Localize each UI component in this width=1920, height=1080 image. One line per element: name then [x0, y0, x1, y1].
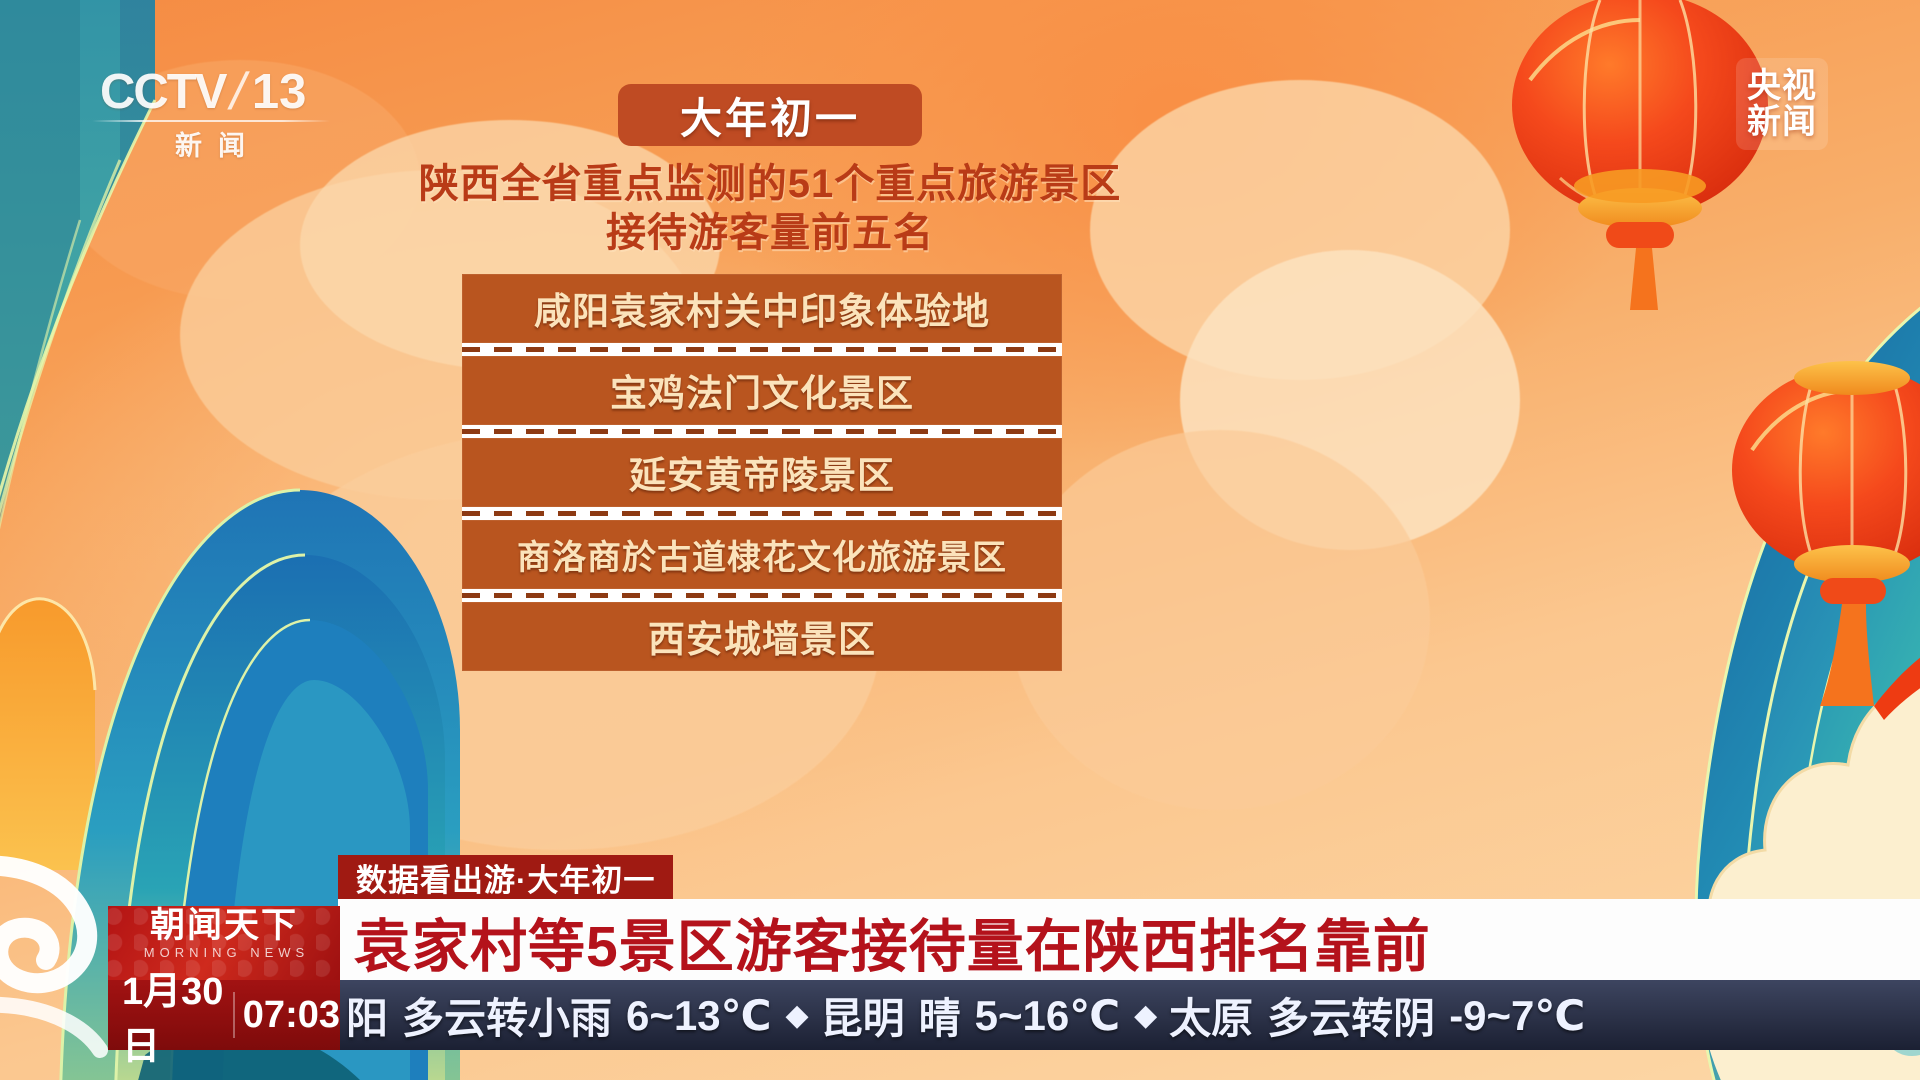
weather-entry: 昆明 晴 5~16℃ — [815, 985, 1121, 1046]
program-name-cn: 朝闻天下 — [108, 908, 340, 945]
cctv-channel-logo: CCTV / 13 新闻 — [100, 62, 320, 163]
ranking-list-item: 宝鸡法门文化景区 — [462, 356, 1062, 425]
weather-separator-icon: ◆ — [1134, 998, 1157, 1033]
broadcast-date: 1月30日 — [108, 960, 225, 1070]
program-name-en: MORNING NEWS — [108, 945, 340, 960]
ranking-list-separator — [462, 425, 1062, 438]
weather-condition: 多云转小雨 — [402, 985, 612, 1046]
topic-tag: 数据看出游·大年初一 — [338, 855, 673, 899]
headline-line-2: 接待游客量前五名 — [400, 209, 1140, 258]
cctv-wordmark: CCTV — [100, 68, 225, 117]
festival-day-badge-label: 大年初一 — [680, 85, 860, 146]
ranking-list-item: 咸阳袁家村关中印象体验地 — [462, 274, 1062, 343]
weather-separator-icon: ◆ — [786, 998, 809, 1033]
ranking-list: 咸阳袁家村关中印象体验地 宝鸡法门文化景区 延安黄帝陵景区 商洛商於古道棣花文化… — [462, 274, 1062, 671]
ranking-item-name: 西安城墙景区 — [648, 609, 876, 663]
cctv-channel-name: 新闻 — [100, 124, 320, 163]
ranking-list-item: 西安城墙景区 — [462, 602, 1062, 671]
date-time-bar: 1月30日 07:03 — [108, 980, 340, 1050]
cctv-logo-underline — [92, 120, 330, 122]
headline-line-1: 陕西全省重点监测的51个重点旅游景区 — [400, 160, 1140, 209]
weather-entry: 阳 多云转小雨 6~13℃ — [340, 985, 772, 1046]
weather-city: 阳 — [346, 985, 388, 1046]
ranking-list-item: 延安黄帝陵景区 — [462, 438, 1062, 507]
weather-condition: 多云转阴 — [1267, 985, 1435, 1046]
infographic-panel: 大年初一 陕西全省重点监测的51个重点旅游景区 接待游客量前五名 咸阳袁家村关中… — [400, 84, 1140, 671]
ranking-list-item: 商洛商於古道棣花文化旅游景区 — [462, 520, 1062, 589]
cctv-channel-number: 13 — [252, 68, 307, 117]
weather-temperature: 5~16℃ — [975, 991, 1120, 1040]
ranking-item-name: 商洛商於古道棣花文化旅游景区 — [517, 530, 1007, 579]
cctv-news-watermark: 央视 新闻 — [1736, 58, 1828, 150]
watermark-line-1: 央视 — [1747, 69, 1817, 104]
weather-city: 太原 — [1169, 985, 1253, 1046]
ranking-list-separator — [462, 589, 1062, 602]
broadcast-screen: CCTV / 13 新闻 央视 新闻 大年初一 陕西全省重点监测的51个重点旅游… — [0, 0, 1920, 1080]
ranking-list-separator — [462, 343, 1062, 356]
weather-city: 昆明 — [821, 985, 905, 1046]
cctv-slash-divider: / — [225, 62, 252, 122]
weather-condition: 晴 — [919, 985, 961, 1046]
weather-temperature: -9~7℃ — [1449, 991, 1585, 1040]
ranking-list-separator — [462, 507, 1062, 520]
festival-day-badge: 大年初一 — [618, 84, 922, 146]
topic-tag-label: 数据看出游·大年初一 — [356, 855, 655, 900]
weather-ticker: 阳 多云转小雨 6~13℃ ◆ 昆明 晴 5~16℃ ◆ 太原 多云转阴 -9~… — [340, 980, 1920, 1050]
infographic-headline: 陕西全省重点监测的51个重点旅游景区 接待游客量前五名 — [400, 160, 1140, 258]
weather-temperature: 6~13℃ — [626, 991, 771, 1040]
lower-third-headline: 袁家村等5景区游客接待量在陕西排名靠前 — [338, 901, 1431, 983]
ranking-item-name: 宝鸡法门文化景区 — [610, 363, 914, 417]
watermark-line-2: 新闻 — [1747, 105, 1817, 140]
weather-entry: 太原 多云转阴 -9~7℃ — [1163, 985, 1585, 1046]
ranking-item-name: 咸阳袁家村关中印象体验地 — [534, 281, 990, 335]
lower-third-banner: 袁家村等5景区游客接待量在陕西排名靠前 — [338, 899, 1920, 985]
broadcast-time: 07:03 — [243, 994, 340, 1037]
cctv-logo-row: CCTV / 13 — [100, 62, 320, 122]
datetime-divider — [233, 992, 234, 1038]
ranking-item-name: 延安黄帝陵景区 — [629, 445, 895, 499]
